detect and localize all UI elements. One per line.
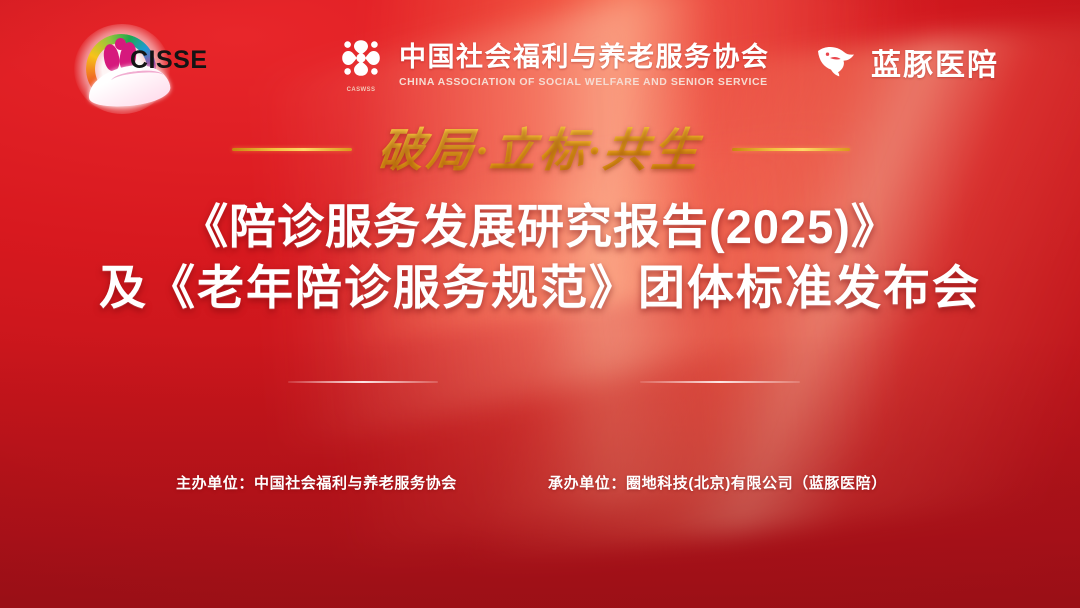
association-logo: CASWSS 中国社会福利与养老服务协会 CHINA ASSOCIATION O… xyxy=(336,36,770,94)
host-organization: 主办单位：中国社会福利与养老服务协会 xyxy=(176,472,457,493)
clover-icon-svg xyxy=(338,37,384,79)
slogan-row: 破局·立标·共生 xyxy=(0,118,1080,188)
title-line-1: 《陪诊服务发展研究报告(2025)》 xyxy=(0,196,1080,257)
dolphin-icon xyxy=(812,38,860,86)
divider-right xyxy=(640,381,800,383)
cisse-logo: CISSE xyxy=(70,22,195,114)
slogan-text: 破局·立标·共生 xyxy=(0,114,1080,180)
association-cn-name: 中国社会福利与养老服务协会 xyxy=(399,42,770,72)
logo-bar: CISSE CASWSS xyxy=(0,0,1080,118)
landun-brand-name: 蓝豚医陪 xyxy=(871,40,999,84)
association-en-name: CHINA ASSOCIATION OF SOCIAL WELFARE AND … xyxy=(399,76,770,88)
event-meta-row: 北 京 2025年5月22日 北京·国家会议中心 xyxy=(0,345,1080,425)
landun-brand-logo: 蓝豚医陪 xyxy=(812,38,999,86)
title-line-2: 及《老年陪诊服务规范》团体标准发布会 xyxy=(0,257,1080,318)
cisse-wordmark: CISSE xyxy=(130,46,208,75)
clover-emblem-icon: CASWSS xyxy=(336,37,386,93)
divider-left xyxy=(288,381,438,383)
page-title: 《陪诊服务发展研究报告(2025)》 及《老年陪诊服务规范》团体标准发布会 xyxy=(0,196,1080,318)
poster-canvas: CISSE CASWSS xyxy=(0,0,1080,608)
association-mark-caption: CASWSS xyxy=(336,87,386,93)
organizer-organization: 承办单位：圈地科技(北京)有限公司（蓝豚医陪） xyxy=(548,472,887,493)
association-names: 中国社会福利与养老服务协会 CHINA ASSOCIATION OF SOCIA… xyxy=(399,42,770,87)
footer-row: 主办单位：中国社会福利与养老服务协会 承办单位：圈地科技(北京)有限公司（蓝豚医… xyxy=(0,472,1080,502)
figure-head-icon xyxy=(115,38,126,50)
